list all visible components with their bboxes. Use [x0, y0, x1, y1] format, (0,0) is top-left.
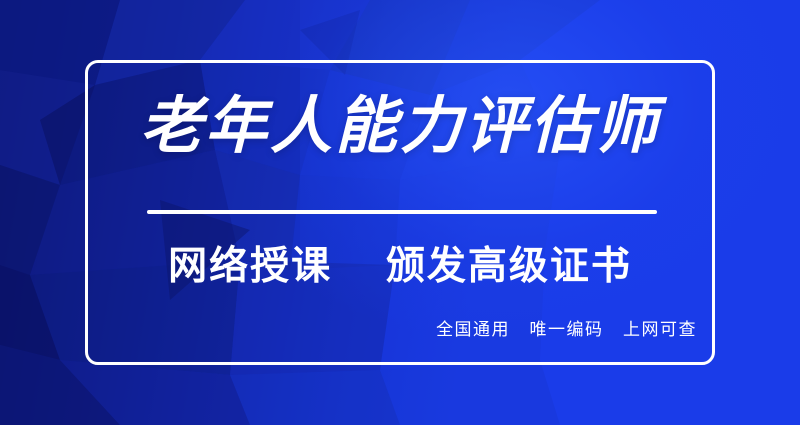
banner-title: 老年人能力评估师 — [0, 92, 800, 162]
title-divider — [147, 210, 657, 214]
subtitle-left-text: 网络授课 — [168, 245, 332, 288]
tagline-part-3: 上网可查 — [623, 320, 697, 339]
subtitle-right-text: 颁发高级证书 — [386, 245, 632, 288]
tagline-part-1: 全国通用 — [436, 320, 510, 339]
banner-content: 老年人能力评估师 网络授课 颁发高级证书 全国通用 唯一编码 上网可查 — [0, 0, 800, 425]
tagline-part-2: 唯一编码 — [530, 320, 604, 339]
banner-tagline: 全国通用 唯一编码 上网可查 — [436, 319, 697, 341]
promo-banner: 老年人能力评估师 网络授课 颁发高级证书 全国通用 唯一编码 上网可查 — [0, 0, 800, 425]
banner-subtitle: 网络授课 颁发高级证书 — [0, 243, 800, 291]
